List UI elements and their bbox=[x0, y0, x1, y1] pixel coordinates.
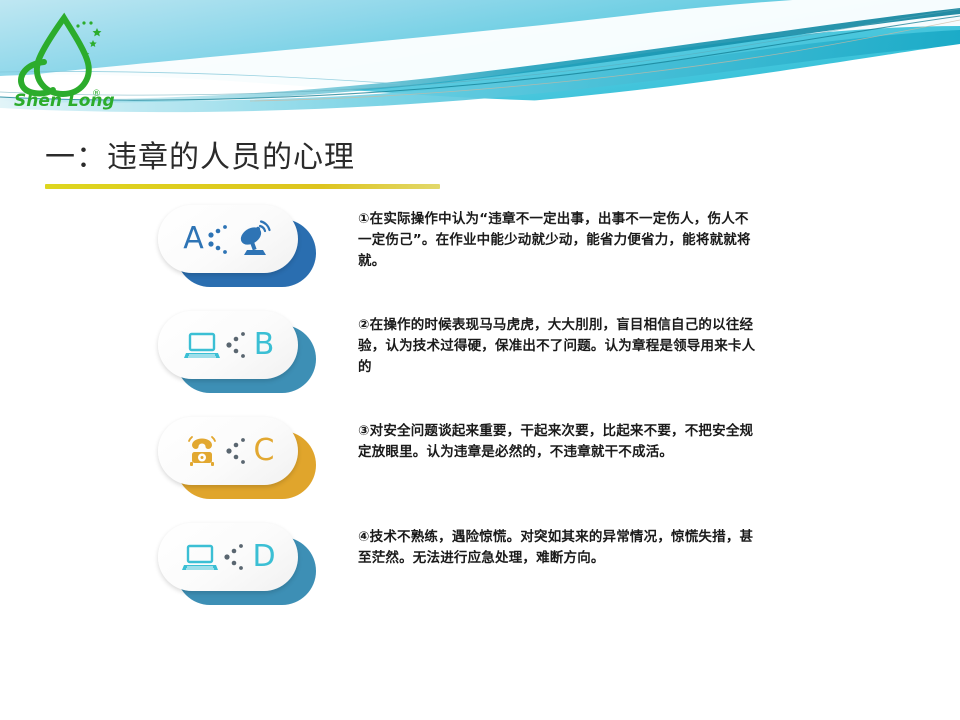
header-banner bbox=[0, 0, 960, 120]
badge-pill-d[interactable]: D bbox=[158, 523, 318, 609]
telephone-icon bbox=[182, 431, 222, 471]
list-item: B ②在操作的时候表现马马虎虎，大大刖刖，盲目相信自己的以往经验，认为技术过得硬… bbox=[0, 311, 960, 417]
laptop-icon bbox=[180, 537, 220, 577]
badge-pill-c[interactable]: C bbox=[158, 417, 318, 503]
laptop-icon bbox=[182, 325, 222, 365]
title-block: 一：违章的人员的心理 bbox=[45, 138, 465, 189]
dots-cluster-icon bbox=[223, 540, 249, 574]
water-drop-leaf-logo-icon: Shen Long ® bbox=[8, 6, 118, 111]
wave-ribbon-banner-icon bbox=[0, 0, 960, 120]
list-item-text: ①在实际操作中认为“违章不一定出事，出事不一定伤人，伤人不一定伤己”。在作业中能… bbox=[358, 209, 758, 272]
pill-letter-b: B bbox=[254, 330, 275, 360]
dots-cluster-icon bbox=[207, 222, 233, 256]
badge-pill-b[interactable]: B bbox=[158, 311, 318, 397]
badge-pill-a[interactable]: A bbox=[158, 205, 318, 291]
content-list: A bbox=[0, 205, 960, 629]
pill-letter-c: C bbox=[254, 436, 275, 466]
pill-face: A bbox=[158, 205, 298, 273]
title-underline-rule bbox=[45, 184, 440, 189]
brand-logo: Shen Long ® bbox=[8, 6, 118, 111]
slide-canvas: Shen Long ® 一：违章的人员的心理 A bbox=[0, 0, 960, 720]
list-item-text: ②在操作的时候表现马马虎虎，大大刖刖，盲目相信自己的以往经验，认为技术过得硬，保… bbox=[358, 315, 758, 378]
pill-face: D bbox=[158, 523, 298, 591]
list-item-text: ④技术不熟练，遇险惊慌。对突如其来的异常情况，惊慌失措，甚至茫然。无法进行应急处… bbox=[358, 527, 758, 569]
pill-letter-d: D bbox=[252, 542, 275, 572]
page-title: 一：违章的人员的心理 bbox=[45, 138, 465, 178]
satellite-dish-icon bbox=[233, 219, 273, 259]
pill-letter-a: A bbox=[183, 224, 204, 254]
list-item: A bbox=[0, 205, 960, 311]
list-item: D ④技术不熟练，遇险惊慌。对突如其来的异常情况，惊慌失措，甚至茫然。无法进行应… bbox=[0, 523, 960, 629]
logo-trademark: ® bbox=[92, 89, 101, 99]
dots-cluster-icon bbox=[225, 434, 251, 468]
pill-face: B bbox=[158, 311, 298, 379]
list-item-text: ③对安全问题谈起来重要，干起来次要，比起来不要，不把安全规定放眼里。认为违章是必… bbox=[358, 421, 758, 463]
list-item: C ③对安全问题谈起来重要，干起来次要，比起来不要，不把安全规定放眼里。认为违章… bbox=[0, 417, 960, 523]
pill-face: C bbox=[158, 417, 298, 485]
dots-cluster-icon bbox=[225, 328, 251, 362]
